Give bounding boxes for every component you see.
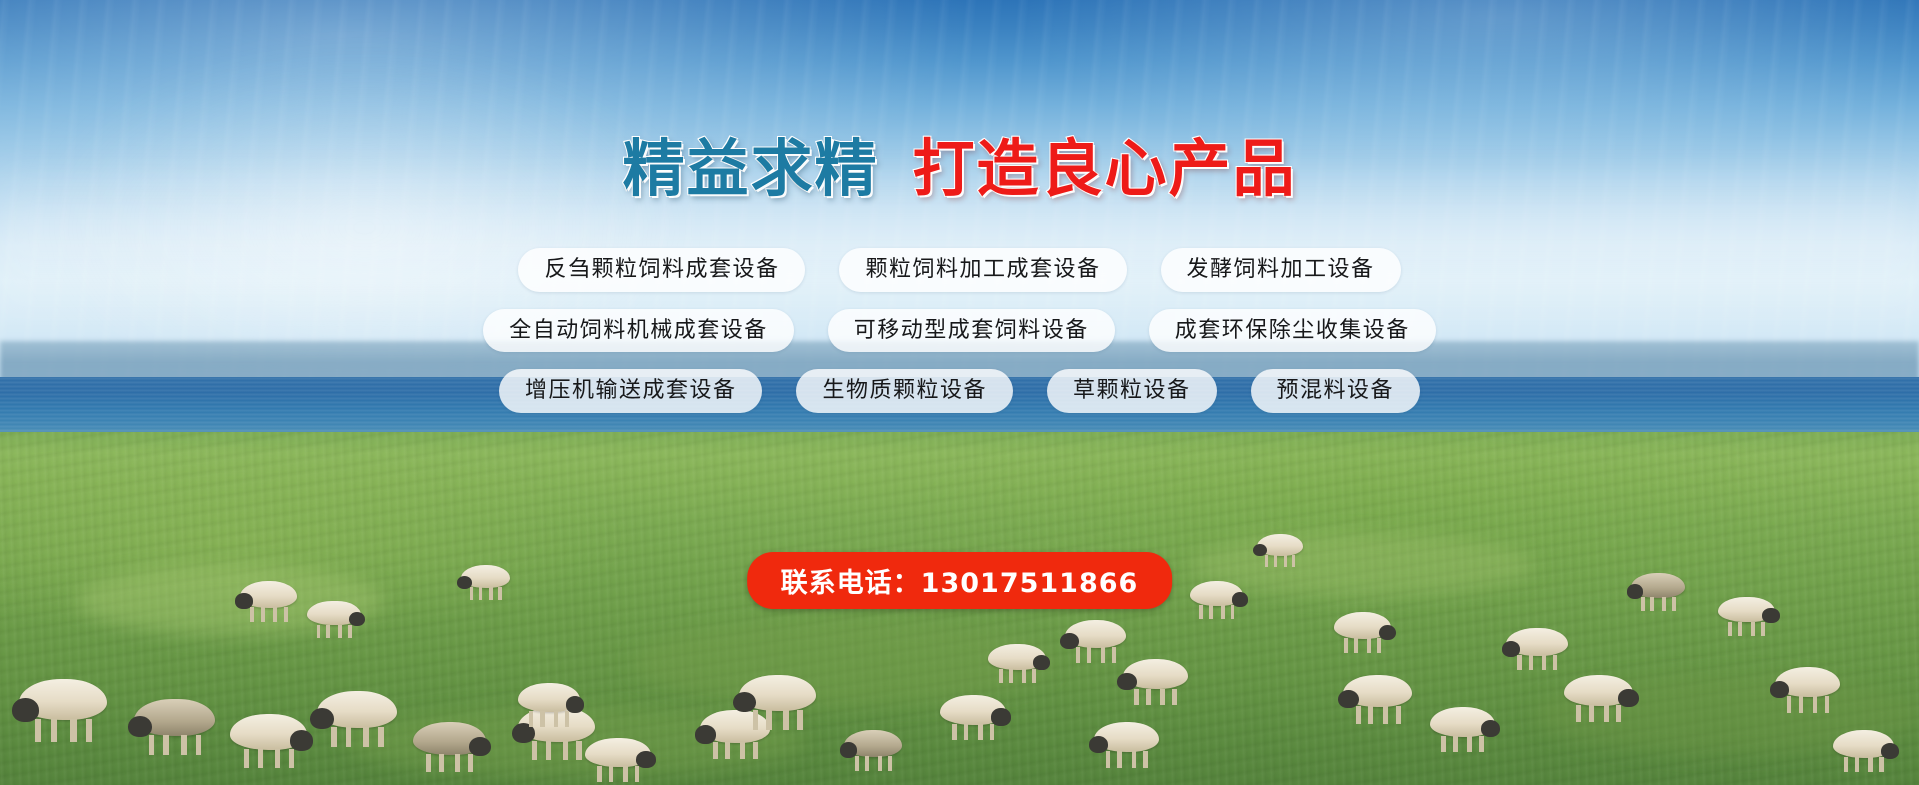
pill-fermented-feed-processing-equipment[interactable]: 发酵饲料加工设备 [1161, 248, 1401, 292]
banner-headline: 精益求精打造良心产品 [0, 138, 1919, 200]
pill-booster-conveying-equipment[interactable]: 增压机输送成套设备 [499, 369, 763, 413]
pill-ruminant-pellet-feed-equipment[interactable]: 反刍颗粒饲料成套设备 [518, 248, 805, 292]
pill-row-3: 增压机输送成套设备 生物质颗粒设备 草颗粒设备 预混料设备 [0, 369, 1919, 413]
pill-row-1: 反刍颗粒饲料成套设备 颗粒饲料加工成套设备 发酵饲料加工设备 [0, 248, 1919, 292]
headline-part-two: 打造良心产品 [913, 132, 1297, 205]
headline-part-one: 精益求精 [622, 132, 878, 205]
pill-premix-equipment[interactable]: 预混料设备 [1251, 369, 1421, 413]
pill-mobile-feed-equipment[interactable]: 可移动型成套饲料设备 [828, 309, 1115, 353]
pill-dust-collection-equipment[interactable]: 成套环保除尘收集设备 [1149, 309, 1436, 353]
promo-banner: 精益求精打造良心产品 反刍颗粒饲料成套设备 颗粒饲料加工成套设备 发酵饲料加工设… [0, 0, 1919, 785]
pill-grass-pellet-equipment[interactable]: 草颗粒设备 [1047, 369, 1217, 413]
contact-phone-badge[interactable]: 联系电话：13017511866 [747, 552, 1173, 609]
product-category-pills: 反刍颗粒饲料成套设备 颗粒饲料加工成套设备 发酵饲料加工设备 全自动饲料机械成套… [0, 248, 1919, 430]
pill-automatic-feed-machinery-equipment[interactable]: 全自动饲料机械成套设备 [483, 309, 794, 353]
pill-biomass-pellet-equipment[interactable]: 生物质颗粒设备 [796, 369, 1013, 413]
pill-row-2: 全自动饲料机械成套设备 可移动型成套饲料设备 成套环保除尘收集设备 [0, 309, 1919, 353]
pill-pellet-feed-processing-equipment[interactable]: 颗粒饲料加工成套设备 [839, 248, 1126, 292]
